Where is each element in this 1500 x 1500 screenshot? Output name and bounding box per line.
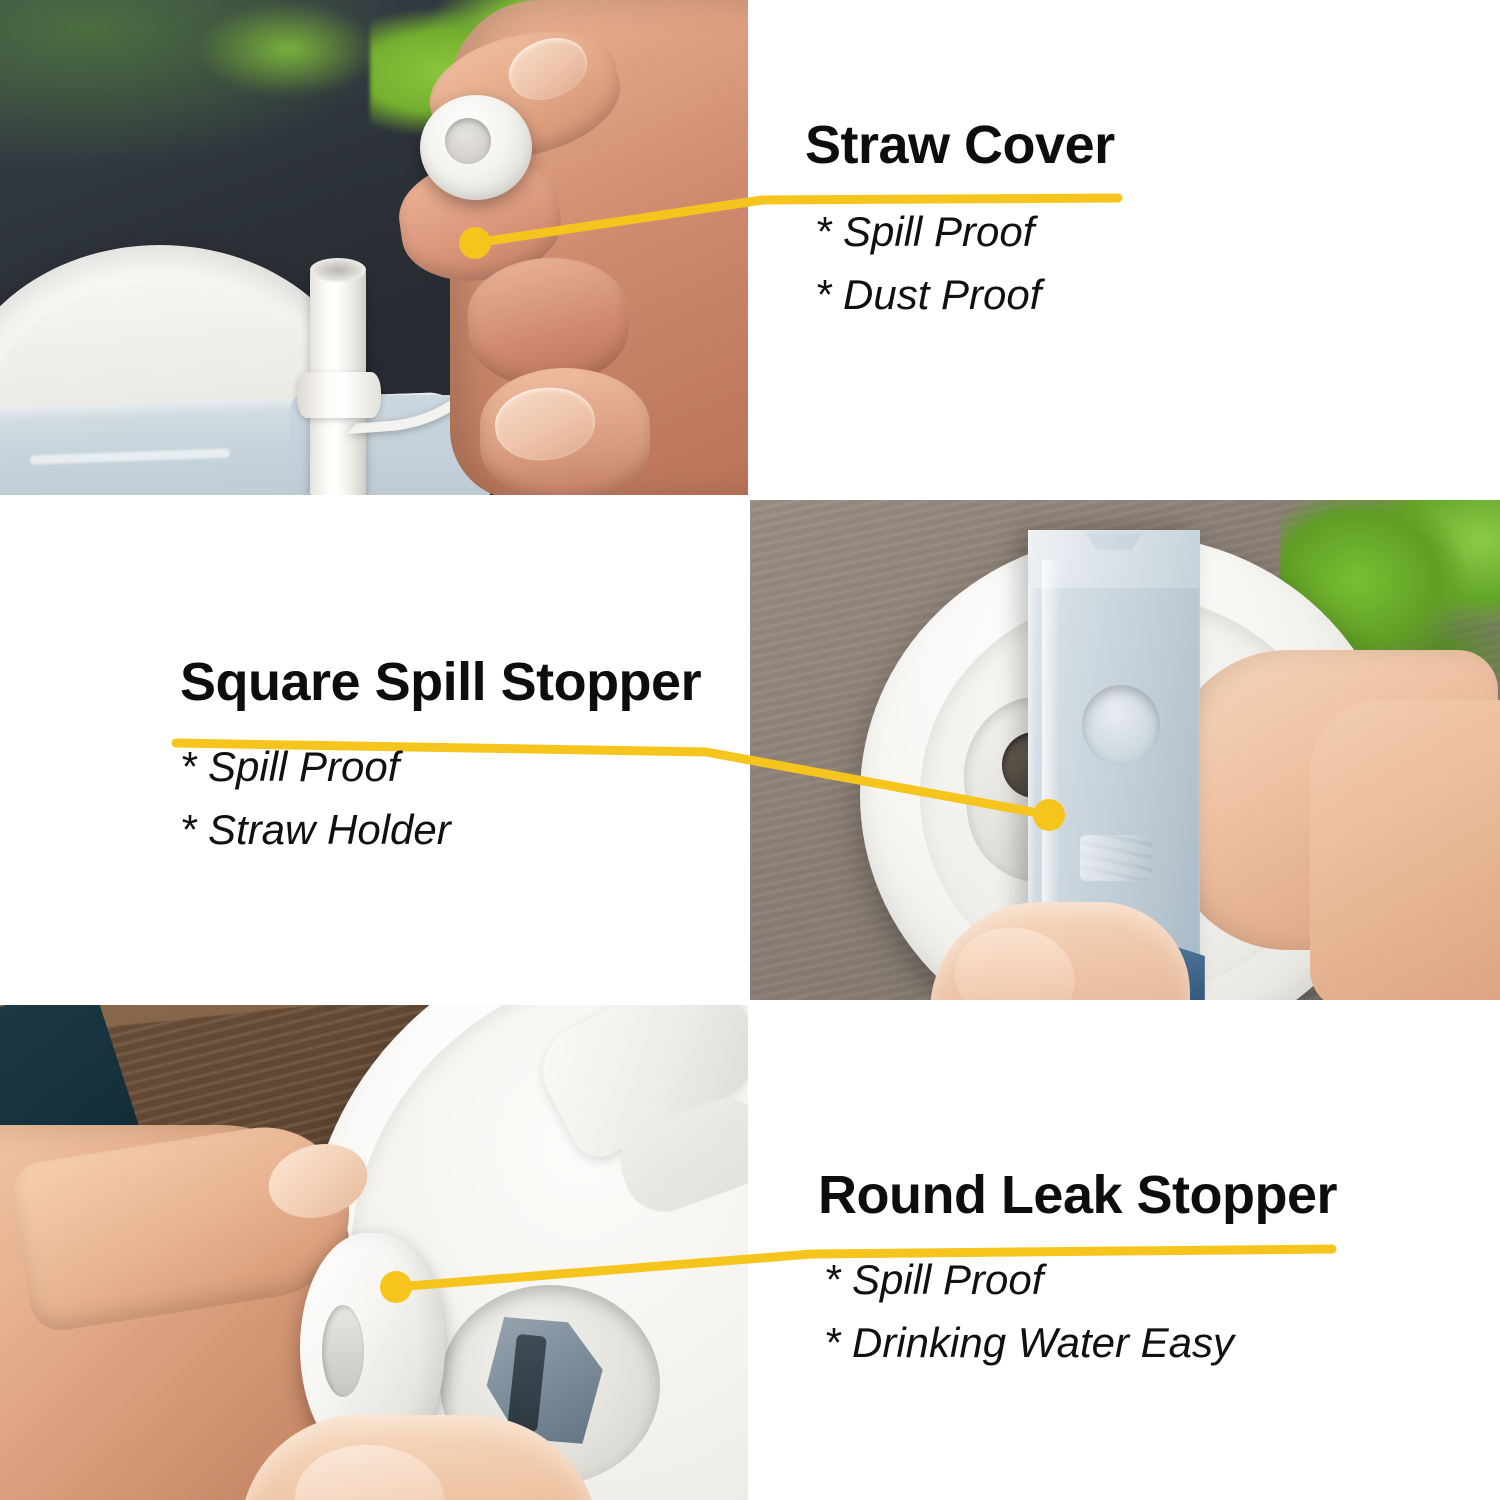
callout-bullet: * Spill Proof [824,1256,1337,1303]
photo-round-leak-stopper [0,1005,748,1500]
callout-bullet: * Spill Proof [815,208,1115,255]
hand [1310,700,1500,1000]
photo-square-spill-stopper [750,500,1500,1000]
stopper-bar-emboss [1080,835,1152,881]
stopper-bar-hole [1082,685,1160,765]
straw-cover-cap-recess [445,118,491,164]
straw-collar [297,372,381,418]
product-feature-infographic: Straw Cover * Spill Proof * Dust Proof S… [0,0,1500,1500]
callout-round-leak-stopper: Round Leak Stopper * Spill Proof * Drink… [818,1168,1337,1382]
callout-title-straw-cover: Straw Cover [805,118,1115,172]
foliage-blur-icon [150,0,380,110]
callout-bullet: * Drinking Water Easy [824,1319,1337,1366]
callout-bullets-straw-cover: * Spill Proof * Dust Proof [815,208,1115,318]
callout-bullet: * Dust Proof [815,271,1115,318]
callout-bullets-square-spill-stopper: * Spill Proof * Straw Holder [180,743,701,853]
callout-title-square-spill-stopper: Square Spill Stopper [180,655,701,709]
callout-bullets-round-leak-stopper: * Spill Proof * Drinking Water Easy [824,1256,1337,1366]
callout-square-spill-stopper: Square Spill Stopper * Spill Proof * Str… [180,655,701,869]
callout-bullet: * Spill Proof [180,743,701,790]
callout-title-round-leak-stopper: Round Leak Stopper [818,1168,1337,1222]
round-stopper-recess [322,1305,364,1397]
callout-bullet: * Straw Holder [180,806,701,853]
callout-straw-cover: Straw Cover * Spill Proof * Dust Proof [805,118,1115,334]
photo-straw-cover [0,0,748,495]
